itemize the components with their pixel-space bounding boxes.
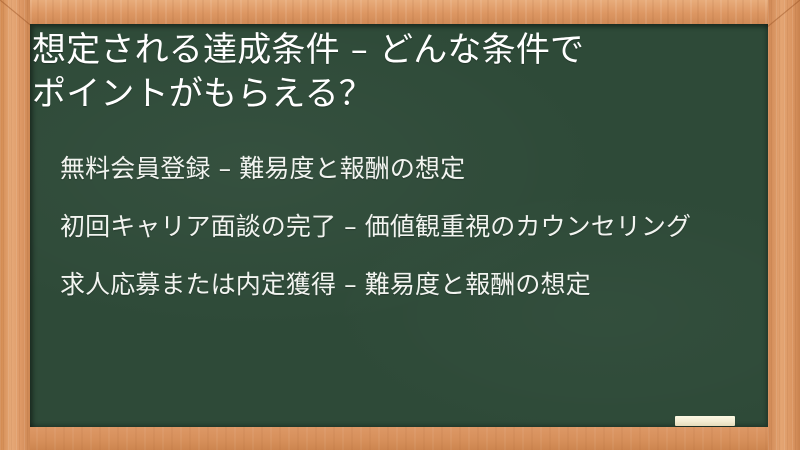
chalk-stick	[675, 416, 735, 426]
list-item: 無料会員登録 – 難易度と報酬の想定	[60, 150, 732, 187]
chalkboard-slide: 想定される達成条件 – どんな条件で ポイントがもらえる？ 無料会員登録 – 難…	[0, 0, 800, 450]
frame-bottom-ledge	[0, 427, 800, 450]
bullet-list: 無料会員登録 – 難易度と報酬の想定 初回キャリア面談の完了 – 価値観重視のカ…	[60, 150, 732, 303]
frame-left-rail	[0, 0, 30, 450]
chalkboard-surface: 想定される達成条件 – どんな条件で ポイントがもらえる？ 無料会員登録 – 難…	[30, 24, 768, 427]
frame-right-rail	[768, 0, 800, 450]
list-item: 初回キャリア面談の完了 – 価値観重視のカウンセリング	[60, 208, 732, 245]
list-item: 求人応募または内定獲得 – 難易度と報酬の想定	[60, 266, 732, 303]
frame-top-rail	[0, 0, 800, 24]
page-title: 想定される達成条件 – どんな条件で ポイントがもらえる？	[32, 28, 732, 116]
chalkboard-content: 想定される達成条件 – どんな条件で ポイントがもらえる？ 無料会員登録 – 難…	[30, 24, 768, 427]
